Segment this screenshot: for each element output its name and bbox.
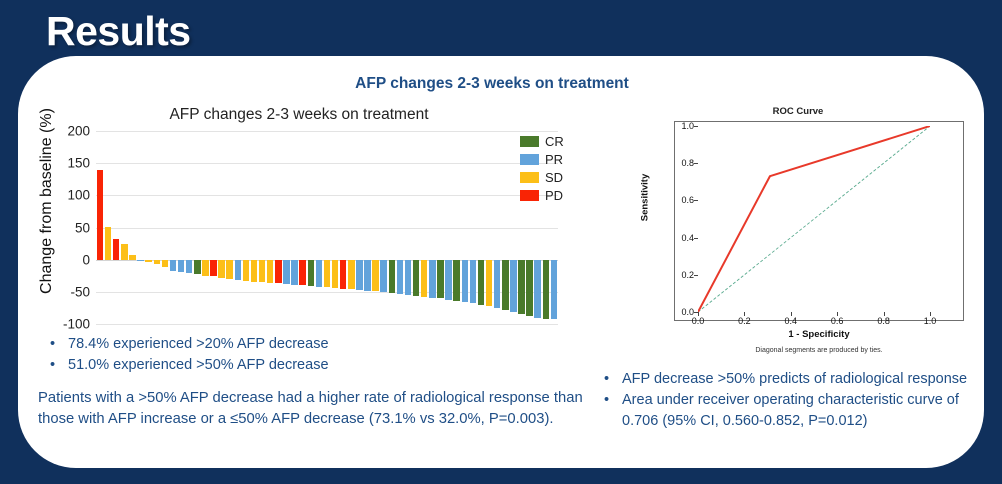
waterfall-bar (340, 260, 346, 289)
waterfall-bar (453, 260, 459, 301)
waterfall-bar (405, 260, 411, 295)
waterfall-bar (372, 260, 378, 292)
roc-x-tick-mark (884, 312, 885, 316)
section-headline-text: AFP changes 2-3 weeks on treatment (355, 75, 629, 92)
waterfall-bar (137, 260, 143, 261)
waterfall-bar (380, 260, 386, 292)
roc-chart: ROC Curve 0.00.20.40.60.81.00.00.20.40.6… (618, 104, 978, 374)
roc-x-tick-mark (791, 312, 792, 316)
waterfall-bar (251, 260, 257, 282)
roc-y-tick-mark (694, 163, 698, 164)
waterfall-bar (462, 260, 468, 302)
waterfall-bar (97, 170, 103, 259)
waterfall-bar (194, 260, 200, 275)
page-title: Results (46, 8, 191, 55)
waterfall-bar (551, 260, 557, 320)
bullet-item: •Area under receiver operating character… (596, 390, 984, 432)
waterfall-legend-label: PD (545, 188, 563, 203)
waterfall-y-tick-label: -50 (70, 284, 90, 299)
waterfall-bar (543, 260, 549, 319)
waterfall-bar (413, 260, 419, 297)
roc-y-tick-label: 1.0 (681, 121, 694, 131)
roc-y-tick-label: 0.8 (681, 158, 694, 168)
waterfall-bar (364, 260, 370, 291)
waterfall-bar (218, 260, 224, 278)
waterfall-bar (397, 260, 403, 295)
waterfall-bar (348, 260, 354, 290)
waterfall-y-tick-label: 50 (75, 220, 90, 235)
legend-swatch-icon (520, 136, 539, 147)
roc-plot-frame: 0.00.20.40.60.81.00.00.20.40.60.81.0 (674, 121, 964, 321)
waterfall-bar (534, 260, 540, 318)
roc-x-axis-label: 1 - Specificity (674, 329, 964, 340)
waterfall-bar (170, 260, 176, 271)
roc-x-tick-mark (744, 312, 745, 316)
roc-curve-svg (698, 126, 930, 312)
slide-root: Results AFP changes 2-3 weeks on treatme… (0, 0, 1002, 484)
bullet-text: 51.0% experienced >50% AFP decrease (68, 355, 329, 376)
waterfall-legend-label: SD (545, 170, 563, 185)
waterfall-bar (299, 260, 305, 286)
bullet-text: 78.4% experienced >20% AFP decrease (68, 334, 329, 355)
roc-y-tick-label: 0.4 (681, 233, 694, 243)
waterfall-y-axis-label: Change from baseline (%) (38, 96, 56, 306)
legend-swatch-icon (520, 190, 539, 201)
waterfall-bar (332, 260, 338, 288)
roc-y-tick-label: 0.2 (681, 270, 694, 280)
waterfall-legend-label: CR (545, 134, 564, 149)
waterfall-legend-label: PR (545, 152, 563, 167)
waterfall-bar (478, 260, 484, 305)
bullet-dot-icon: • (42, 334, 68, 355)
waterfall-y-tick-label: 100 (67, 188, 90, 203)
waterfall-bar (121, 244, 127, 260)
legend-swatch-icon (520, 172, 539, 183)
section-headline: AFP changes 2-3 weeks on treatment (18, 75, 984, 93)
roc-x-tick-mark (837, 312, 838, 316)
waterfall-bar (154, 260, 160, 265)
roc-x-tick-label: 0.6 (831, 316, 844, 326)
content-card: AFP changes 2-3 weeks on treatment AFP c… (18, 56, 984, 468)
roc-plot-area: 0.00.20.40.60.81.00.00.20.40.60.81.0 (698, 126, 930, 312)
waterfall-y-tick-label: -100 (63, 317, 90, 332)
roc-x-tick-mark (698, 312, 699, 316)
roc-chart-title: ROC Curve (618, 106, 978, 117)
bullet-dot-icon: • (596, 390, 622, 432)
waterfall-bar (324, 260, 330, 288)
waterfall-bar (316, 260, 322, 287)
waterfall-bar (105, 227, 111, 260)
bullet-item: •AFP decrease >50% predicts of radiologi… (596, 369, 984, 390)
waterfall-bar (202, 260, 208, 276)
waterfall-bar (243, 260, 249, 281)
waterfall-bar (210, 260, 216, 277)
waterfall-bar (283, 260, 289, 284)
bullet-item: •51.0% experienced >50% AFP decrease (42, 355, 462, 376)
waterfall-bar (445, 260, 451, 300)
waterfall-bar (494, 260, 500, 308)
waterfall-bar (275, 260, 281, 284)
waterfall-chart: AFP changes 2-3 weeks on treatment Chang… (24, 104, 584, 339)
left-bullet-list: •78.4% experienced >20% AFP decrease•51.… (42, 334, 462, 376)
waterfall-y-tick-label: 200 (67, 124, 90, 139)
waterfall-bar (421, 260, 427, 297)
right-bullet-list: •AFP decrease >50% predicts of radiologi… (596, 369, 984, 432)
waterfall-bar (518, 260, 524, 315)
waterfall-bar (226, 260, 232, 279)
waterfall-bar (178, 260, 184, 272)
waterfall-bar (145, 260, 151, 263)
roc-y-tick-mark (694, 238, 698, 239)
waterfall-bar (429, 260, 435, 298)
waterfall-bar (308, 260, 314, 286)
waterfall-legend-item: PD (520, 188, 582, 203)
waterfall-bar (129, 255, 135, 260)
bullet-text: Area under receiver operating characteri… (622, 390, 984, 432)
roc-y-tick-mark (694, 126, 698, 127)
left-paragraph: Patients with a >50% AFP decrease had a … (38, 388, 598, 430)
waterfall-bar (267, 260, 273, 283)
waterfall-bar (510, 260, 516, 313)
waterfall-bar (291, 260, 297, 285)
waterfall-gridline: -100 (96, 324, 558, 325)
bullet-dot-icon: • (596, 369, 622, 390)
waterfall-bar (186, 260, 192, 274)
waterfall-bar (162, 260, 168, 267)
waterfall-bar (235, 260, 241, 280)
waterfall-bar (437, 260, 443, 299)
waterfall-legend-item: SD (520, 170, 582, 185)
waterfall-y-tick-label: 0 (82, 252, 90, 267)
roc-y-tick-mark (694, 275, 698, 276)
waterfall-bar (486, 260, 492, 306)
roc-y-tick-mark (694, 200, 698, 201)
bullet-dot-icon: • (42, 355, 68, 376)
roc-x-tick-label: 1.0 (924, 316, 937, 326)
roc-reference-line (698, 126, 930, 312)
roc-y-tick-label: 0.6 (681, 195, 694, 205)
waterfall-chart-title: AFP changes 2-3 weeks on treatment (84, 106, 514, 124)
waterfall-bar (389, 260, 395, 293)
bullet-text: AFP decrease >50% predicts of radiologic… (622, 369, 967, 390)
waterfall-bar (502, 260, 508, 310)
roc-x-tick-label: 0.4 (785, 316, 798, 326)
legend-swatch-icon (520, 154, 539, 165)
waterfall-bar (259, 260, 265, 283)
waterfall-bar (526, 260, 532, 317)
waterfall-bar (356, 260, 362, 290)
bullet-item: •78.4% experienced >20% AFP decrease (42, 334, 462, 355)
waterfall-y-tick-label: 150 (67, 156, 90, 171)
roc-x-tick-label: 0.2 (738, 316, 751, 326)
waterfall-legend-item: PR (520, 152, 582, 167)
waterfall-bar (113, 239, 119, 260)
roc-x-tick-label: 0.0 (692, 316, 705, 326)
roc-x-tick-mark (930, 312, 931, 316)
waterfall-legend: CRPRSDPD (520, 134, 582, 206)
roc-footnote: Diagonal segments are produced by ties. (674, 347, 964, 354)
waterfall-plot-area: 200150100500-50-100 (96, 131, 558, 324)
roc-x-tick-label: 0.8 (877, 316, 890, 326)
waterfall-bars (96, 131, 558, 324)
roc-y-axis-label: Sensitivity (640, 143, 651, 253)
waterfall-bar (470, 260, 476, 304)
waterfall-legend-item: CR (520, 134, 582, 149)
